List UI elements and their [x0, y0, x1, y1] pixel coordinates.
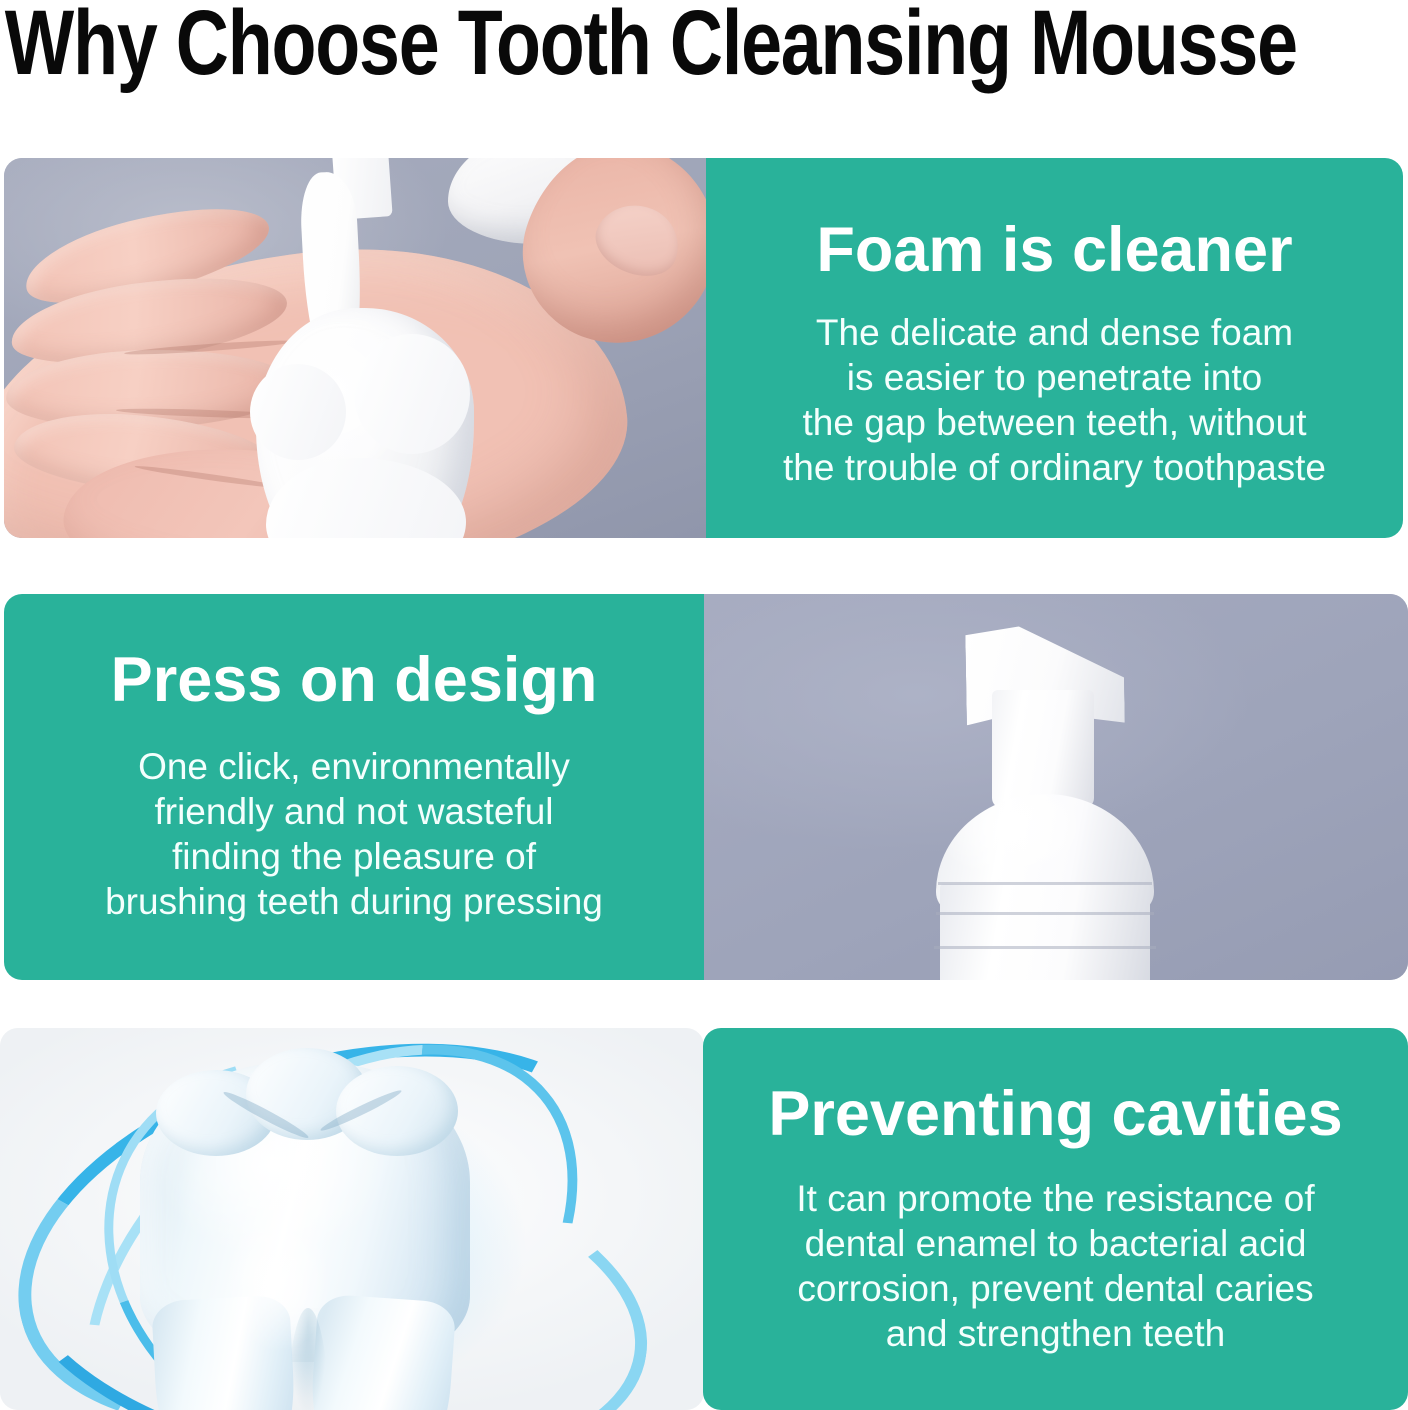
feature-3-image [0, 1028, 704, 1410]
foam-lobe-shape [354, 334, 470, 454]
feature-1-heading: Foam is cleaner [816, 216, 1292, 284]
feature-3-body-line: It can promote the resistance of [796, 1176, 1314, 1221]
page-title-text: Why Choose Tooth Cleansing Mousse [0, 0, 1297, 86]
bottle-ring [934, 946, 1156, 949]
infographic-page: Why Choose Tooth Cleansing Mousse Foam i… [0, 0, 1408, 1410]
feature-2-body-line: One click, environmentally [105, 744, 603, 789]
feature-1-panel: Foam is cleaner The delicate and dense f… [706, 158, 1403, 538]
feature-2-panel: Press on design One click, environmental… [4, 594, 704, 980]
feature-2-heading: Press on design [111, 646, 598, 714]
tooth-specular-highlight [218, 1202, 368, 1402]
feature-1-body-line: the trouble of ordinary toothpaste [783, 445, 1326, 490]
bottle-ring [936, 912, 1154, 915]
feature-2-body-line: finding the pleasure of [105, 834, 603, 879]
feature-3-body: It can promote the resistance of dental … [796, 1176, 1314, 1356]
feature-1-image [4, 158, 706, 538]
bottle-body-shape [940, 884, 1150, 980]
tooth-illustration [140, 1052, 470, 1410]
feature-2-body-line: friendly and not wasteful [105, 789, 603, 834]
feature-3-panel: Preventing cavities It can promote the r… [703, 1028, 1408, 1410]
page-title: Why Choose Tooth Cleansing Mousse [0, 0, 1408, 86]
feature-3-heading: Preventing cavities [768, 1080, 1342, 1148]
feature-3-body-line: dental enamel to bacterial acid [796, 1221, 1314, 1266]
bottle-ring [938, 882, 1152, 885]
feature-2-image [704, 594, 1408, 980]
feature-2-body: One click, environmentally friendly and … [105, 744, 603, 924]
pump-neck-shape [992, 690, 1094, 808]
feature-1-body-line: is easier to penetrate into [783, 355, 1326, 400]
foam-lobe-shape [250, 364, 346, 460]
feature-2-body-line: brushing teeth during pressing [105, 879, 603, 924]
feature-1-body: The delicate and dense foam is easier to… [783, 310, 1326, 490]
feature-1-body-line: The delicate and dense foam [783, 310, 1326, 355]
feature-3-body-line: and strengthen teeth [796, 1311, 1314, 1356]
feature-3-body-line: corrosion, prevent dental caries [796, 1266, 1314, 1311]
feature-1-body-line: the gap between teeth, without [783, 400, 1326, 445]
